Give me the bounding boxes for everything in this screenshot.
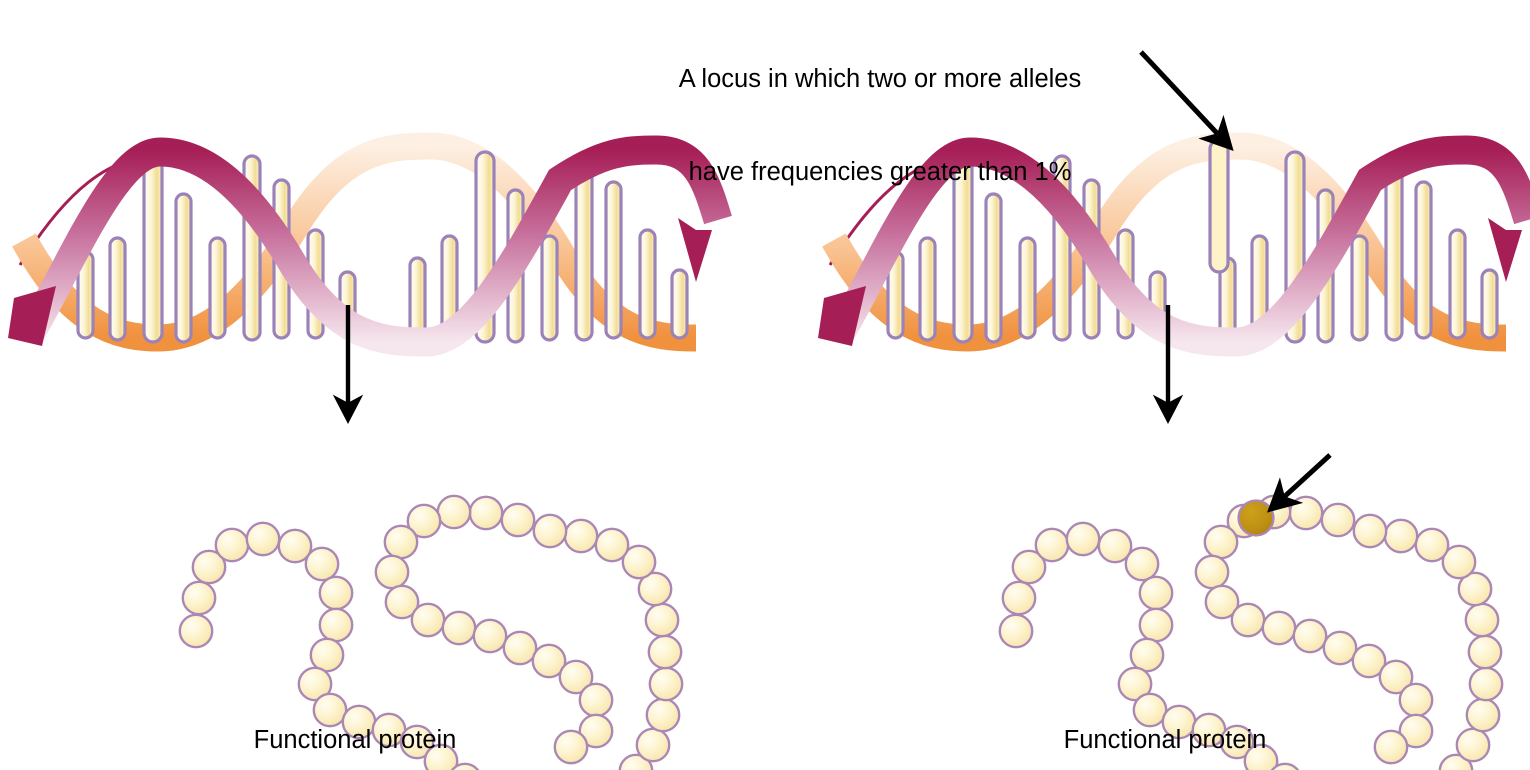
functional-protein-label-right: Functional protein <box>905 725 1425 755</box>
snp-callout-caption: A locus in which two or more alleles hav… <box>600 2 1160 250</box>
snp-figure: A locus in which two or more alleles hav… <box>0 0 1530 770</box>
callout-line-1: A locus in which two or more alleles <box>600 64 1160 95</box>
snp-base-pair <box>1210 140 1228 272</box>
functional-protein-label-left: Functional protein <box>95 725 615 755</box>
variant-amino-acid-bead <box>1239 501 1274 536</box>
callout-line-2: have frequencies greater than 1% <box>600 157 1160 188</box>
